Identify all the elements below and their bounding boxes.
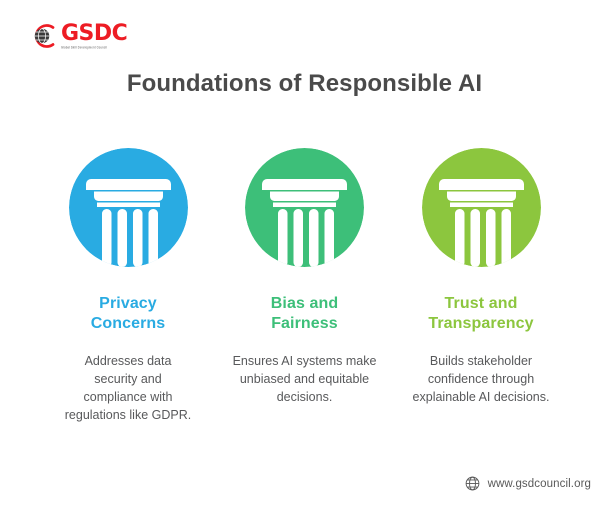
card-privacy-concerns: Privacy Concerns Addresses data security…: [48, 148, 208, 424]
globe-arc-icon: [31, 23, 57, 49]
card-heading-line1: Bias and: [271, 294, 339, 314]
logo-text-block: GSDC Global Skill Development Council: [61, 23, 127, 50]
card-heading-line2: Fairness: [271, 314, 339, 334]
card-description: Addresses data security and compliance w…: [62, 352, 194, 425]
icon-circle-bg: [69, 148, 188, 267]
card-heading-line2: Concerns: [91, 314, 166, 334]
logo-wordmark: GSDC: [61, 23, 127, 45]
footer: www.gsdcouncil.org: [464, 475, 591, 492]
card-trust-and-transparency: Trust and Transparency Builds stakeholde…: [401, 148, 561, 424]
card-bias-and-fairness: Bias and Fairness Ensures AI systems mak…: [225, 148, 385, 424]
gsdc-logo: GSDC Global Skill Development Council: [31, 22, 127, 50]
pillar-icon-privacy: [69, 148, 188, 267]
pillar-icon-bias: [245, 148, 364, 267]
pillars-row: Privacy Concerns Addresses data security…: [48, 148, 561, 424]
logo-tagline: Global Skill Development Council: [61, 47, 127, 51]
card-heading: Privacy Concerns: [91, 294, 166, 335]
pillar-icon-trust: [422, 148, 541, 267]
pillar-icon: [69, 148, 188, 267]
pillar-icon: [422, 148, 541, 267]
page-title: Foundations of Responsible AI: [0, 70, 609, 98]
icon-circle-bg: [245, 148, 364, 267]
card-description: Ensures AI systems make unbiased and equ…: [231, 352, 379, 406]
footer-url[interactable]: www.gsdcouncil.org: [488, 478, 591, 490]
card-description: Builds stakeholder confidence through ex…: [405, 352, 557, 406]
globe-icon: [464, 475, 481, 492]
card-heading: Bias and Fairness: [271, 294, 339, 335]
card-heading: Trust and Transparency: [428, 294, 533, 335]
pillar-icon: [245, 148, 364, 267]
card-heading-line1: Privacy: [91, 294, 166, 314]
icon-circle-bg: [422, 148, 541, 267]
card-heading-line1: Trust and: [428, 294, 533, 314]
card-heading-line2: Transparency: [428, 314, 533, 334]
